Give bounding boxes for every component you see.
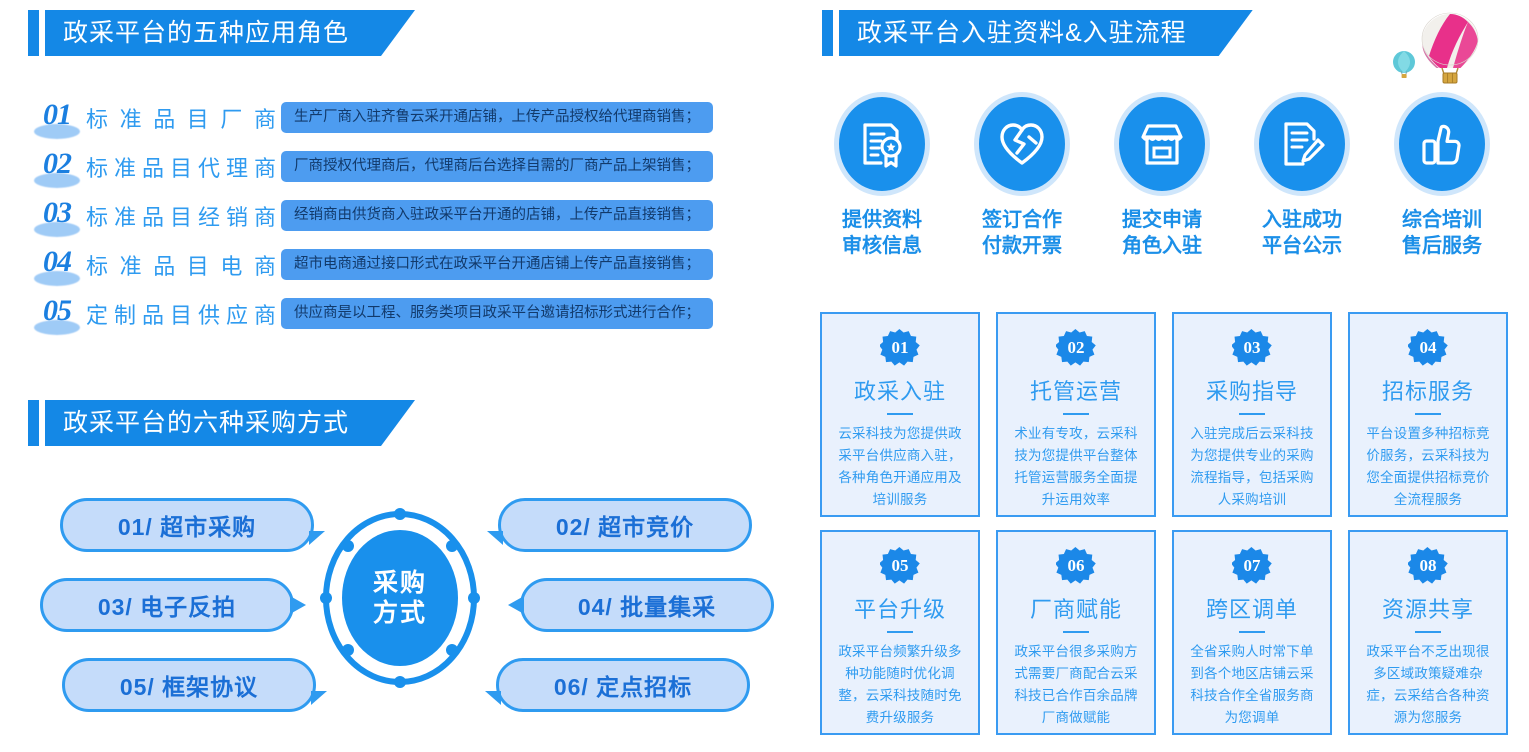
role-number-badge: 01	[28, 98, 86, 138]
bubble-tail-icon	[485, 691, 501, 705]
process-step-2[interactable]: 签订合作 付款开票	[962, 92, 1082, 259]
roles-section-header: 政采平台的五种应用角色	[28, 10, 415, 56]
roles-list: 01 标准品目厂商 生产厂商入驻齐鲁云采开通店铺，上传产品授权给代理商销售； 0…	[28, 93, 788, 338]
role-description: 供应商是以工程、服务类项目政采平台邀请招标形式进行合作；	[282, 299, 712, 328]
rosette-badge-icon: 07	[1232, 546, 1272, 586]
card-divider	[1063, 631, 1089, 633]
card-number: 05	[880, 546, 920, 586]
step-label: 入驻成功 平台公示	[1242, 208, 1362, 259]
role-description: 经销商由供货商入驻政采平台开通的店铺，上传产品直接销售；	[282, 201, 712, 230]
bubble-tail-icon	[311, 691, 327, 705]
rosette-badge-icon: 05	[880, 546, 920, 586]
right-column: 政采平台入驻资料&入驻流程	[810, 0, 1529, 752]
card-body: 政采平台不乏出现很多区域政策疑难杂症，云采结合各种资源为您服务	[1350, 641, 1506, 728]
role-number-badge: 02	[28, 147, 86, 187]
role-number: 05	[43, 294, 71, 328]
balloon-icon	[1390, 2, 1510, 92]
service-card-04[interactable]: 04 招标服务 平台设置多种招标竞价服务，云采科技为您全面提供招标竞价全流程服务	[1348, 312, 1508, 517]
card-number: 06	[1056, 546, 1096, 586]
heart-handshake-icon	[997, 119, 1047, 169]
rosette-badge-icon: 03	[1232, 328, 1272, 368]
document-edit-icon	[1277, 119, 1327, 169]
card-divider	[1415, 413, 1441, 415]
card-title: 招标服务	[1382, 374, 1474, 406]
step-label-line-2: 售后服务	[1382, 234, 1502, 260]
card-title: 平台升级	[854, 592, 946, 624]
card-title: 采购指导	[1206, 374, 1298, 406]
card-number: 08	[1408, 546, 1448, 586]
process-section-header: 政采平台入驻资料&入驻流程	[822, 10, 1253, 56]
step-label-line-2: 审核信息	[822, 234, 942, 260]
header-accent-bar	[28, 10, 39, 56]
method-label: 03/ 电子反拍	[98, 588, 236, 622]
method-label: 01/ 超市采购	[118, 508, 256, 542]
role-description: 生产厂商入驻齐鲁云采开通店铺，上传产品授权给代理商销售；	[282, 103, 712, 132]
method-bubble-01[interactable]: 01/ 超市采购	[60, 498, 314, 552]
process-step-3[interactable]: 提交申请 角色入驻	[1102, 92, 1222, 259]
role-description: 厂商授权代理商后，代理商后台选择自需的厂商产品上架销售；	[282, 152, 712, 181]
step-label: 综合培训 售后服务	[1382, 208, 1502, 259]
step-label: 签订合作 付款开票	[962, 208, 1082, 259]
method-label: 06/ 定点招标	[554, 668, 692, 702]
step-icon-circle	[1394, 92, 1490, 196]
step-label-line-1: 签订合作	[962, 208, 1082, 234]
role-row[interactable]: 02 标准品目代理商 厂商授权代理商后，代理商后台选择自需的厂商产品上架销售；	[28, 142, 788, 191]
methods-section-title: 政采平台的六种采购方式	[63, 411, 349, 436]
card-title: 政采入驻	[854, 374, 946, 406]
card-number: 01	[880, 328, 920, 368]
rosette-badge-icon: 06	[1056, 546, 1096, 586]
card-title: 厂商赋能	[1030, 592, 1122, 624]
card-body: 入驻完成后云采科技为您提供专业的采购流程指导，包括采购人采购培训	[1174, 423, 1330, 510]
thumbs-up-icon	[1417, 119, 1467, 169]
step-icon-circle	[834, 92, 930, 196]
methods-section-header: 政采平台的六种采购方式	[28, 400, 415, 446]
process-step-1[interactable]: 提供资料 审核信息	[822, 92, 942, 259]
role-number-badge: 04	[28, 245, 86, 285]
header-accent-bar	[822, 10, 833, 56]
header-slab: 政采平台入驻资料&入驻流程	[839, 10, 1253, 56]
methods-hub: 采购 方式	[320, 508, 480, 688]
process-section-title: 政采平台入驻资料&入驻流程	[857, 21, 1187, 46]
role-row[interactable]: 05 定制品目供应商 供应商是以工程、服务类项目政采平台邀请招标形式进行合作；	[28, 289, 788, 338]
method-bubble-03[interactable]: 03/ 电子反拍	[40, 578, 294, 632]
card-divider	[887, 631, 913, 633]
role-number: 02	[43, 147, 71, 181]
process-step-4[interactable]: 入驻成功 平台公示	[1242, 92, 1362, 259]
role-number-badge: 03	[28, 196, 86, 236]
card-title: 跨区调单	[1206, 592, 1298, 624]
step-icon-circle	[1114, 92, 1210, 196]
card-number: 03	[1232, 328, 1272, 368]
step-label-line-1: 入驻成功	[1242, 208, 1362, 234]
card-title: 资源共享	[1382, 592, 1474, 624]
card-body: 政采平台很多采购方式需要厂商配合云采科技已合作百余品牌厂商做赋能	[998, 641, 1154, 728]
card-divider	[1239, 413, 1265, 415]
role-row[interactable]: 04 标准品目电商 超市电商通过接口形式在政采平台开通店铺上传产品直接销售；	[28, 240, 788, 289]
role-number: 03	[43, 196, 71, 230]
card-divider	[1415, 631, 1441, 633]
method-bubble-05[interactable]: 05/ 框架协议	[62, 658, 316, 712]
role-number: 01	[43, 98, 71, 132]
rosette-badge-icon: 02	[1056, 328, 1096, 368]
storefront-icon	[1137, 119, 1187, 169]
step-icon-circle	[974, 92, 1070, 196]
card-title: 托管运营	[1030, 374, 1122, 406]
card-number: 04	[1408, 328, 1448, 368]
method-bubble-02[interactable]: 02/ 超市竞价	[498, 498, 752, 552]
card-body: 全省采购人时常下单到各个地区店铺云采科技合作全省服务商为您调单	[1174, 641, 1330, 728]
method-bubble-06[interactable]: 06/ 定点招标	[496, 658, 750, 712]
bubble-tail-icon	[487, 531, 503, 545]
step-icon-circle	[1254, 92, 1350, 196]
left-column: 政采平台的五种应用角色 01 标准品目厂商 生产厂商入驻齐鲁云采开通店铺，上传产…	[0, 0, 800, 752]
role-row[interactable]: 03 标准品目经销商 经销商由供货商入驻政采平台开通的店铺，上传产品直接销售；	[28, 191, 788, 240]
card-number: 02	[1056, 328, 1096, 368]
header-slab: 政采平台的六种采购方式	[45, 400, 415, 446]
header-slab: 政采平台的五种应用角色	[45, 10, 415, 56]
card-body: 术业有专攻，云采科技为您提供平台整体托管运营服务全面提升运用效率	[998, 423, 1154, 510]
role-name: 标准品目代理商	[86, 151, 282, 183]
card-body: 云采科技为您提供政采平台供应商入驻，各种角色开通应用及培训服务	[822, 423, 978, 510]
service-card-06[interactable]: 06 厂商赋能 政采平台很多采购方式需要厂商配合云采科技已合作百余品牌厂商做赋能	[996, 530, 1156, 735]
rosette-badge-icon: 08	[1408, 546, 1448, 586]
step-label: 提交申请 角色入驻	[1102, 208, 1222, 259]
role-number: 04	[43, 245, 71, 279]
step-label: 提供资料 审核信息	[822, 208, 942, 259]
role-number-badge: 05	[28, 294, 86, 334]
card-number: 07	[1232, 546, 1272, 586]
method-label: 05/ 框架协议	[120, 668, 258, 702]
rosette-badge-icon: 04	[1408, 328, 1448, 368]
step-label-line-2: 平台公示	[1242, 234, 1362, 260]
header-gap	[39, 400, 45, 446]
header-accent-bar	[28, 400, 39, 446]
hot-air-balloon-decoration	[1390, 2, 1510, 92]
bubble-tail-icon	[290, 596, 306, 614]
service-card-03[interactable]: 03 采购指导 入驻完成后云采科技为您提供专业的采购流程指导，包括采购人采购培训	[1172, 312, 1332, 517]
step-label-line-2: 付款开票	[962, 234, 1082, 260]
card-divider	[1239, 631, 1265, 633]
service-card-05[interactable]: 05 平台升级 政采平台频繁升级多种功能随时优化调整，云采科技随时免费升级服务	[820, 530, 980, 735]
step-label-line-1: 综合培训	[1382, 208, 1502, 234]
role-name: 标准品目厂商	[86, 102, 282, 134]
role-description: 超市电商通过接口形式在政采平台开通店铺上传产品直接销售；	[282, 250, 712, 279]
role-row[interactable]: 01 标准品目厂商 生产厂商入驻齐鲁云采开通店铺，上传产品授权给代理商销售；	[28, 93, 788, 142]
role-name: 定制品目供应商	[86, 298, 282, 330]
card-divider	[1063, 413, 1089, 415]
card-body: 平台设置多种招标竞价服务，云采科技为您全面提供招标竞价全流程服务	[1350, 423, 1506, 510]
method-label: 04/ 批量集采	[578, 588, 716, 622]
header-gap	[39, 10, 45, 56]
process-step-5[interactable]: 综合培训 售后服务	[1382, 92, 1502, 259]
card-body: 政采平台频繁升级多种功能随时优化调整，云采科技随时免费升级服务	[822, 641, 978, 728]
service-card-07[interactable]: 07 跨区调单 全省采购人时常下单到各个地区店铺云采科技合作全省服务商为您调单	[1172, 530, 1332, 735]
step-label-line-1: 提交申请	[1102, 208, 1222, 234]
method-label: 02/ 超市竞价	[556, 508, 694, 542]
step-label-line-1: 提供资料	[822, 208, 942, 234]
card-divider	[887, 413, 913, 415]
service-card-02[interactable]: 02 托管运营 术业有专攻，云采科技为您提供平台整体托管运营服务全面提升运用效率	[996, 312, 1156, 517]
bubble-tail-icon	[508, 596, 524, 614]
infographic-page: 政采平台的五种应用角色 01 标准品目厂商 生产厂商入驻齐鲁云采开通店铺，上传产…	[0, 0, 1529, 752]
purchase-methods-diagram: 01/ 超市采购 02/ 超市竞价 03/ 电子反拍 04/ 批量集采 05/ …	[0, 470, 800, 740]
header-gap	[833, 10, 839, 56]
service-card-01[interactable]: 01 政采入驻 云采科技为您提供政采平台供应商入驻，各种角色开通应用及培训服务	[820, 312, 980, 517]
role-name: 标准品目经销商	[86, 200, 282, 232]
roles-section-title: 政采平台的五种应用角色	[63, 21, 349, 46]
certificate-icon	[857, 119, 907, 169]
step-label-line-2: 角色入驻	[1102, 234, 1222, 260]
rosette-badge-icon: 01	[880, 328, 920, 368]
role-name: 标准品目电商	[86, 249, 282, 281]
method-bubble-04[interactable]: 04/ 批量集采	[520, 578, 774, 632]
service-card-08[interactable]: 08 资源共享 政采平台不乏出现很多区域政策疑难杂症，云采结合各种资源为您服务	[1348, 530, 1508, 735]
